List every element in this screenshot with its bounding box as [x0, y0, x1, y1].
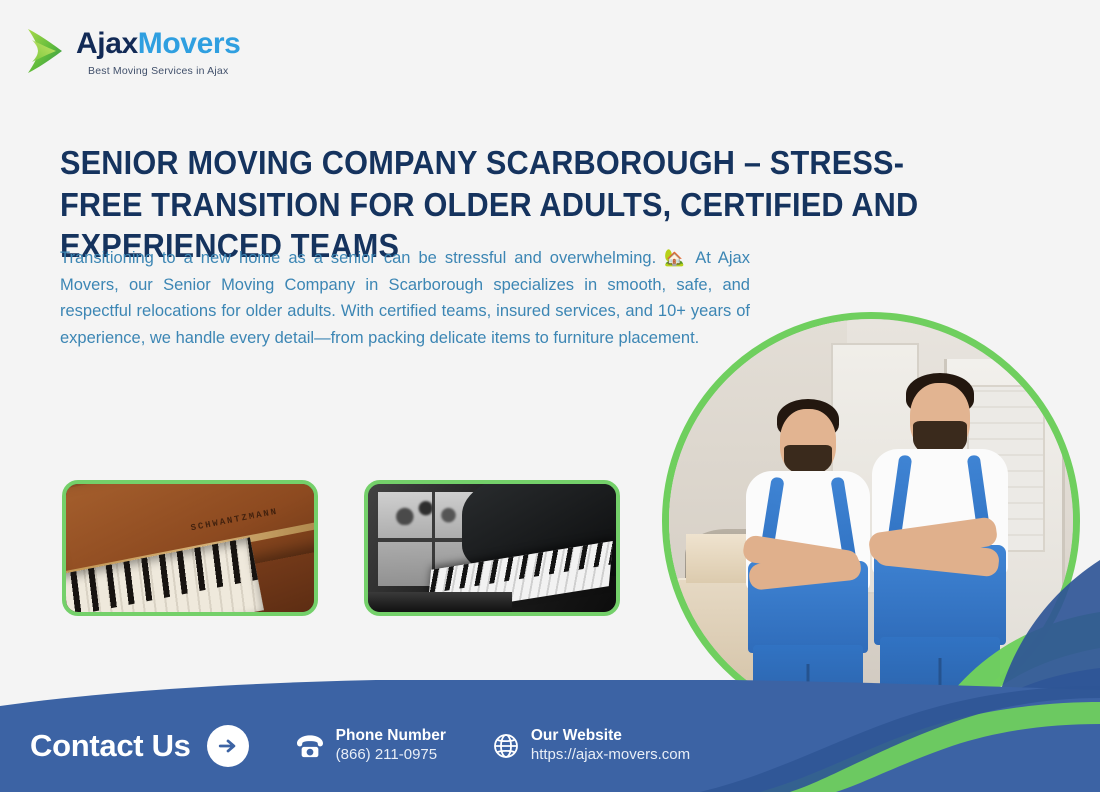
website-label: Our Website: [531, 727, 690, 746]
phone-label: Phone Number: [336, 727, 446, 746]
hero-paragraph: Transitioning to a new home as a senior …: [60, 245, 750, 352]
contact-phone[interactable]: Phone Number (866) 211-0975: [295, 727, 446, 764]
brand-name: AjaxMovers: [76, 29, 240, 59]
black-and-white-grand-piano-photo: [368, 484, 616, 612]
contact-footer: Contact Us Phone Number (866) 211: [0, 680, 1100, 792]
brand-name-second: Movers: [138, 27, 241, 60]
contact-us-label: Contact Us: [30, 728, 191, 764]
brand-tagline: Best Moving Services in Ajax: [76, 65, 240, 77]
globe-icon: [492, 732, 520, 760]
wooden-upright-piano-photo: SCHWANTZMANN: [66, 484, 314, 612]
phone-value[interactable]: (866) 211-0975: [336, 746, 446, 764]
contact-website[interactable]: Our Website https://ajax-movers.com: [492, 727, 690, 764]
gallery-item-bw-piano[interactable]: [364, 480, 620, 616]
brand-name-first: Ajax: [76, 27, 138, 60]
brand-logo[interactable]: AjaxMovers Best Moving Services in Ajax: [24, 26, 240, 77]
arrow-right-icon: [217, 735, 239, 757]
gallery-item-wooden-piano[interactable]: SCHWANTZMANN: [62, 480, 318, 616]
mover-person-right: [857, 373, 1022, 723]
green-chevron-arrow-icon: [24, 26, 66, 76]
poster-canvas: AjaxMovers Best Moving Services in Ajax …: [0, 0, 1100, 792]
movers-team-photo: [662, 312, 1080, 730]
contact-us-arrow-button[interactable]: [207, 725, 249, 767]
telephone-icon: [295, 733, 325, 759]
website-value[interactable]: https://ajax-movers.com: [531, 746, 690, 764]
